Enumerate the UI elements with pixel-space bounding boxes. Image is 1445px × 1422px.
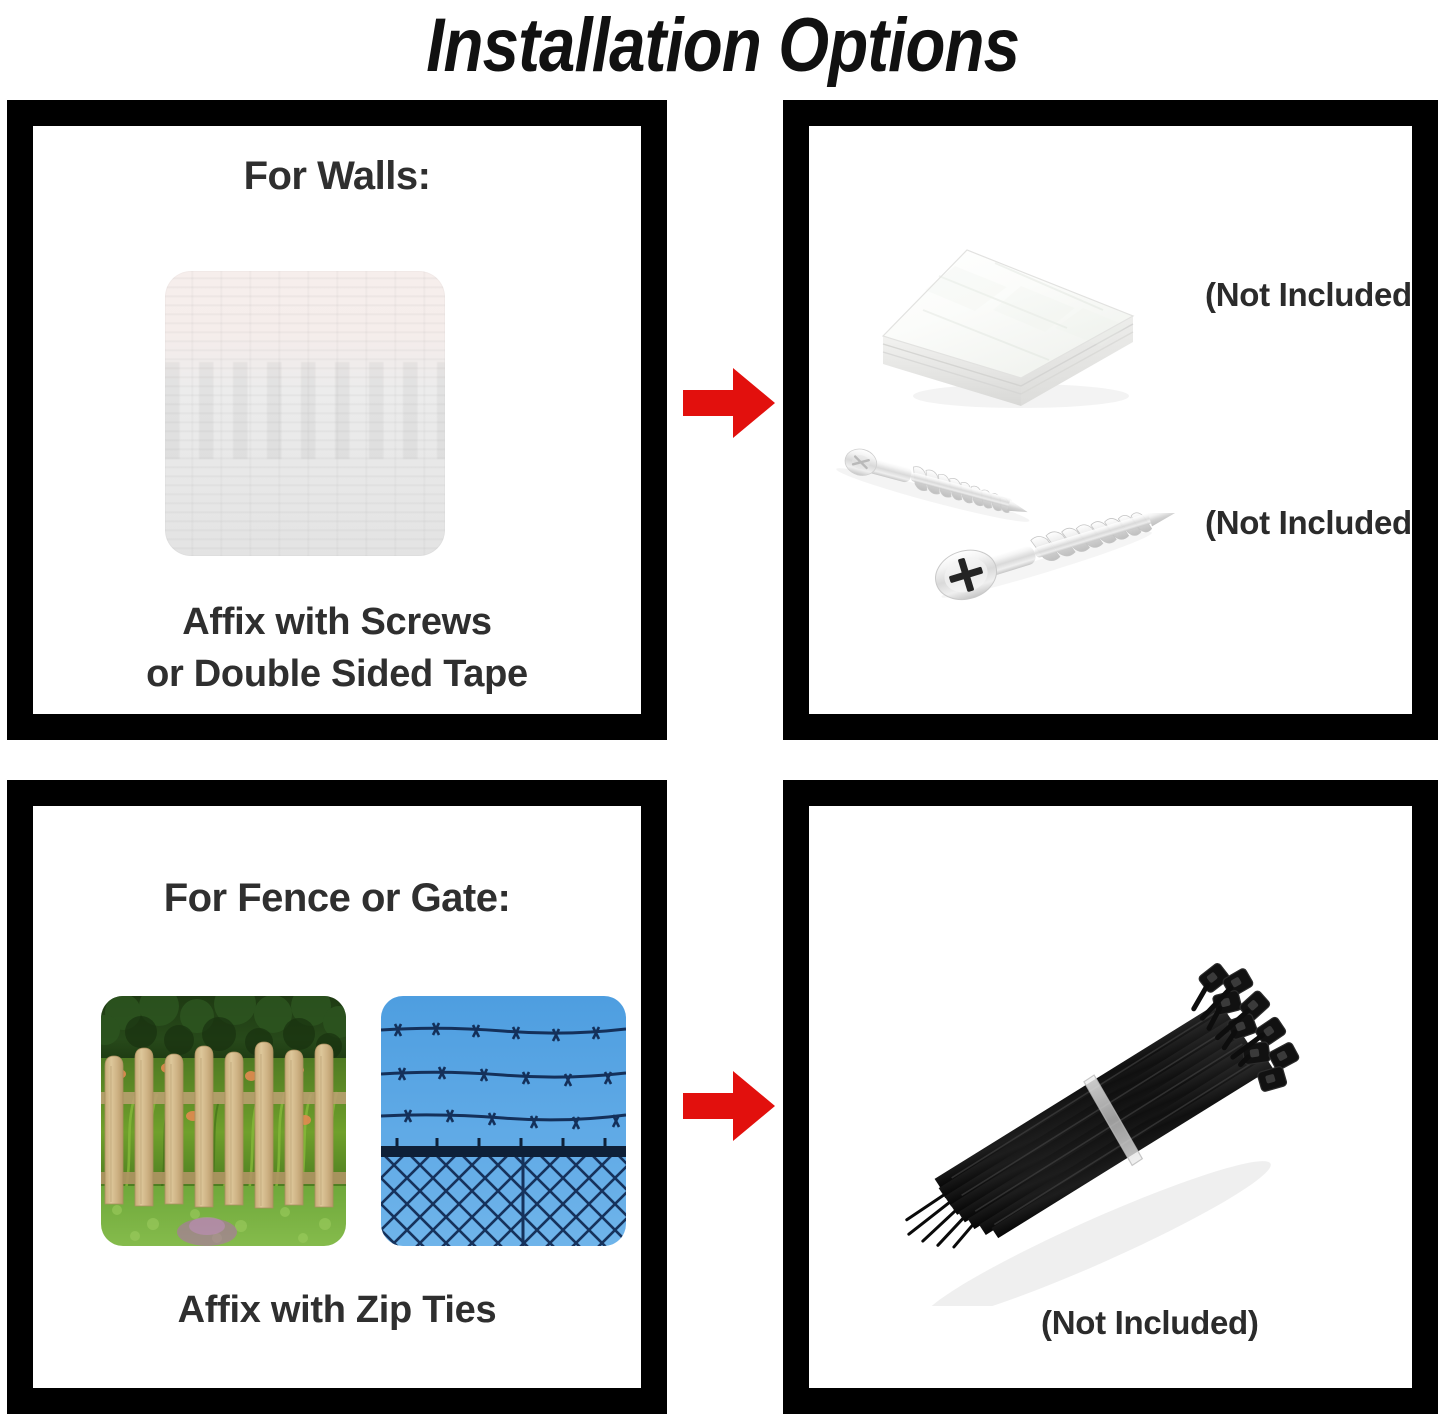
picket-fence-illustration bbox=[101, 996, 346, 1246]
panel-for-walls-content: For Walls: Affix with Screws or Double S… bbox=[33, 126, 641, 714]
chain-link-fence-illustration bbox=[381, 996, 626, 1246]
black-zip-ties-bundle bbox=[847, 911, 1347, 1306]
wood-screws-pair bbox=[829, 426, 1201, 611]
wooden-picket-fence-photo bbox=[101, 996, 346, 1246]
panel-zip-ties-content: (Not Included) bbox=[809, 806, 1412, 1388]
for-walls-caption-line-1: Affix with Screws bbox=[33, 596, 641, 648]
page-title: Installation Options bbox=[426, 6, 1019, 86]
screws-not-included-label: (Not Included) bbox=[1205, 504, 1412, 542]
zip-ties-icon bbox=[847, 911, 1347, 1306]
panel-zip-ties: (Not Included) bbox=[783, 780, 1438, 1414]
for-walls-caption: Affix with Screws or Double Sided Tape bbox=[33, 596, 641, 700]
panel-for-fence-or-gate: For Fence or Gate: bbox=[7, 780, 667, 1414]
for-walls-caption-line-2: or Double Sided Tape bbox=[33, 648, 641, 700]
tape-stack-icon bbox=[871, 238, 1143, 416]
arrow-right-icon bbox=[681, 364, 777, 442]
panel-for-walls: For Walls: Affix with Screws or Double S… bbox=[7, 100, 667, 740]
red-right-arrow-bottom bbox=[681, 1067, 777, 1145]
page-title-bar: Installation Options bbox=[0, 0, 1445, 92]
double-sided-tape-stack bbox=[871, 238, 1143, 416]
white-brick-wall-swatch bbox=[165, 271, 445, 556]
zip-ties-not-included-label: (Not Included) bbox=[1041, 1304, 1259, 1342]
installation-options-grid: For Walls: Affix with Screws or Double S… bbox=[0, 92, 1445, 1422]
for-walls-heading: For Walls: bbox=[33, 154, 641, 199]
panel-for-fence-or-gate-content: For Fence or Gate: bbox=[33, 806, 641, 1388]
chain-link-barbed-wire-fence-photo bbox=[381, 996, 626, 1246]
panel-wall-hardware: (Not Included) bbox=[783, 100, 1438, 740]
for-fence-heading: For Fence or Gate: bbox=[33, 876, 641, 921]
panel-wall-hardware-content: (Not Included) bbox=[809, 126, 1412, 714]
for-fence-caption: Affix with Zip Ties bbox=[33, 1284, 641, 1336]
tape-not-included-label: (Not Included) bbox=[1205, 276, 1412, 314]
arrow-right-icon bbox=[681, 1067, 777, 1145]
screws-icon bbox=[829, 426, 1201, 611]
red-right-arrow-top bbox=[681, 364, 777, 442]
